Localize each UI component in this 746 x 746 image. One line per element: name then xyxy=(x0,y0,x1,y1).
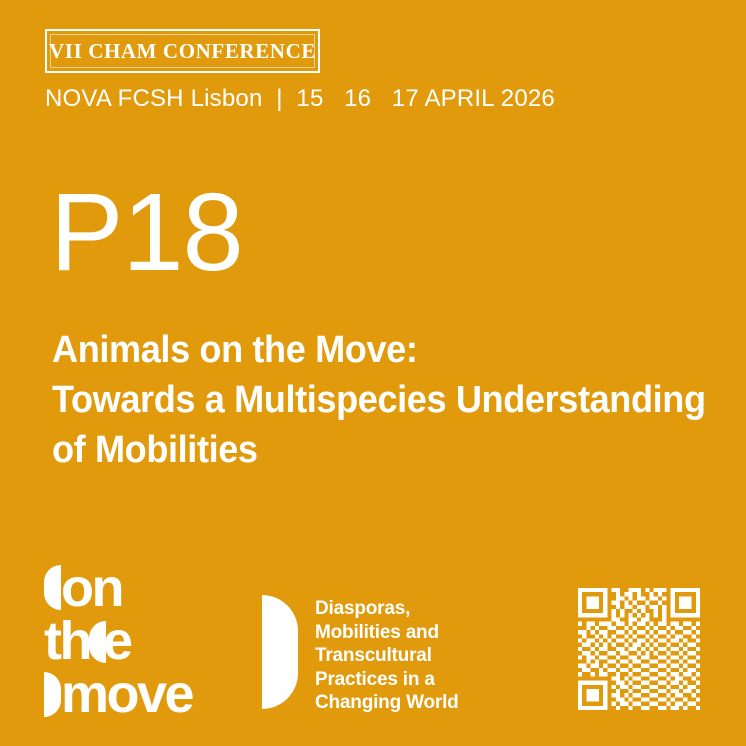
venue-and-dates-line: NOVA FCSH Lisbon | 15 16 17 APRIL 2026 xyxy=(45,85,555,113)
logo-line-move: move xyxy=(44,667,192,721)
panel-title: Animals on the Move: Towards a Multispec… xyxy=(52,325,684,475)
panel-code: P18 xyxy=(50,178,243,288)
qr-code-icon[interactable] xyxy=(578,588,700,710)
poster-canvas: VII CHAM CONFERENCE NOVA FCSH Lisbon | 1… xyxy=(0,0,746,746)
project-tagline: Diasporas, Mobilities and Transcultural … xyxy=(315,597,459,715)
tagline-line-5: Changing World xyxy=(315,691,459,715)
logo-line-the: the xyxy=(44,614,131,668)
qr-code-svg xyxy=(578,588,700,710)
panel-title-line-3: of Mobilities xyxy=(52,425,684,475)
half-disc-right-icon xyxy=(44,672,61,717)
tagline-line-1: Diasporas, xyxy=(315,597,459,621)
tagline-line-2: Mobilities and xyxy=(315,621,459,645)
on-the-move-logo[interactable]: on the move xyxy=(44,561,249,721)
tagline-line-3: Transcultural xyxy=(315,644,459,668)
logo-line-move-text: move xyxy=(61,664,192,724)
panel-title-line-1: Animals on the Move: xyxy=(52,325,684,375)
logo-line-on-text: on xyxy=(61,558,122,618)
half-disc-divider-icon xyxy=(262,595,298,709)
tagline-line-4: Practices in a xyxy=(315,668,459,692)
logo-line-the-text-a: th xyxy=(44,611,90,671)
conference-badge-label: VII CHAM CONFERENCE xyxy=(49,39,316,64)
footer-band: on the move Diasporas, Mobilities and Tr… xyxy=(0,548,746,746)
logo-line-on: on xyxy=(44,561,122,615)
half-disc-left-icon xyxy=(44,565,61,610)
logo-line-the-text-b: e xyxy=(103,611,131,671)
panel-title-line-2: Towards a Multispecies Understanding xyxy=(52,375,684,425)
conference-badge: VII CHAM CONFERENCE xyxy=(45,29,320,73)
